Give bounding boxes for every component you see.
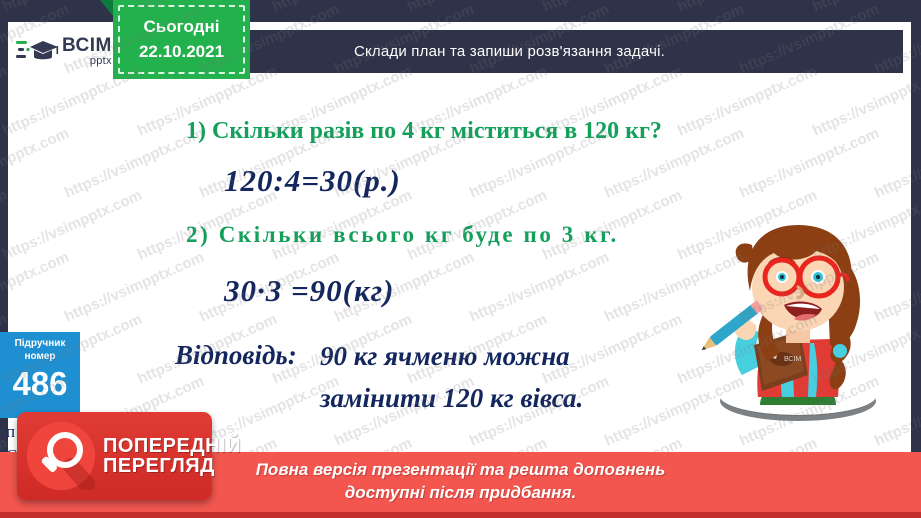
girl-with-pencil-and-book-illustration: ВСІМ (688, 205, 903, 435)
purchase-notice-line-1: Повна версія презентації та решта доповн… (256, 459, 666, 482)
answer-line-1: 90 кг ячменю можна (320, 341, 570, 372)
svg-text:ВСІМ: ВСІМ (784, 356, 801, 363)
slide-canvas: Склади план та запиши розв'язання задачі… (0, 0, 921, 518)
obscured-line-1: п (6, 420, 17, 444)
answer-label: Відповідь: (175, 340, 297, 371)
question-1: 1) Скільки разів по 4 кг міститься в 120… (186, 118, 662, 145)
purchase-notice-line-2: доступні після придбання. (345, 482, 576, 505)
preview-button-labels: ПОПЕРЕДНІЙ ПЕРЕГЛЯД (103, 436, 241, 477)
textbook-label-line-1: Підручник (15, 338, 66, 351)
question-2: 2) Скільки всього кг буде по 3 кг. (186, 222, 619, 248)
preview-button[interactable]: ПОПЕРЕДНІЙ ПЕРЕГЛЯД (17, 412, 212, 500)
bottom-accent-strip (0, 512, 921, 518)
magnifier-icon (27, 422, 95, 490)
textbook-number: 486 (12, 367, 67, 400)
preview-button-line-1: ПОПЕРЕДНІЙ (103, 436, 241, 456)
equation-1: 120:4=30(р.) (224, 163, 401, 199)
textbook-number-card: Підручник номер 486 (0, 332, 80, 418)
preview-button-line-2: ПЕРЕГЛЯД (103, 456, 241, 476)
answer-line-2: замінити 120 кг вівса. (320, 383, 583, 414)
textbook-label-line-2: номер (24, 351, 55, 364)
equation-2: 30·3 =90(кг) (224, 273, 394, 309)
